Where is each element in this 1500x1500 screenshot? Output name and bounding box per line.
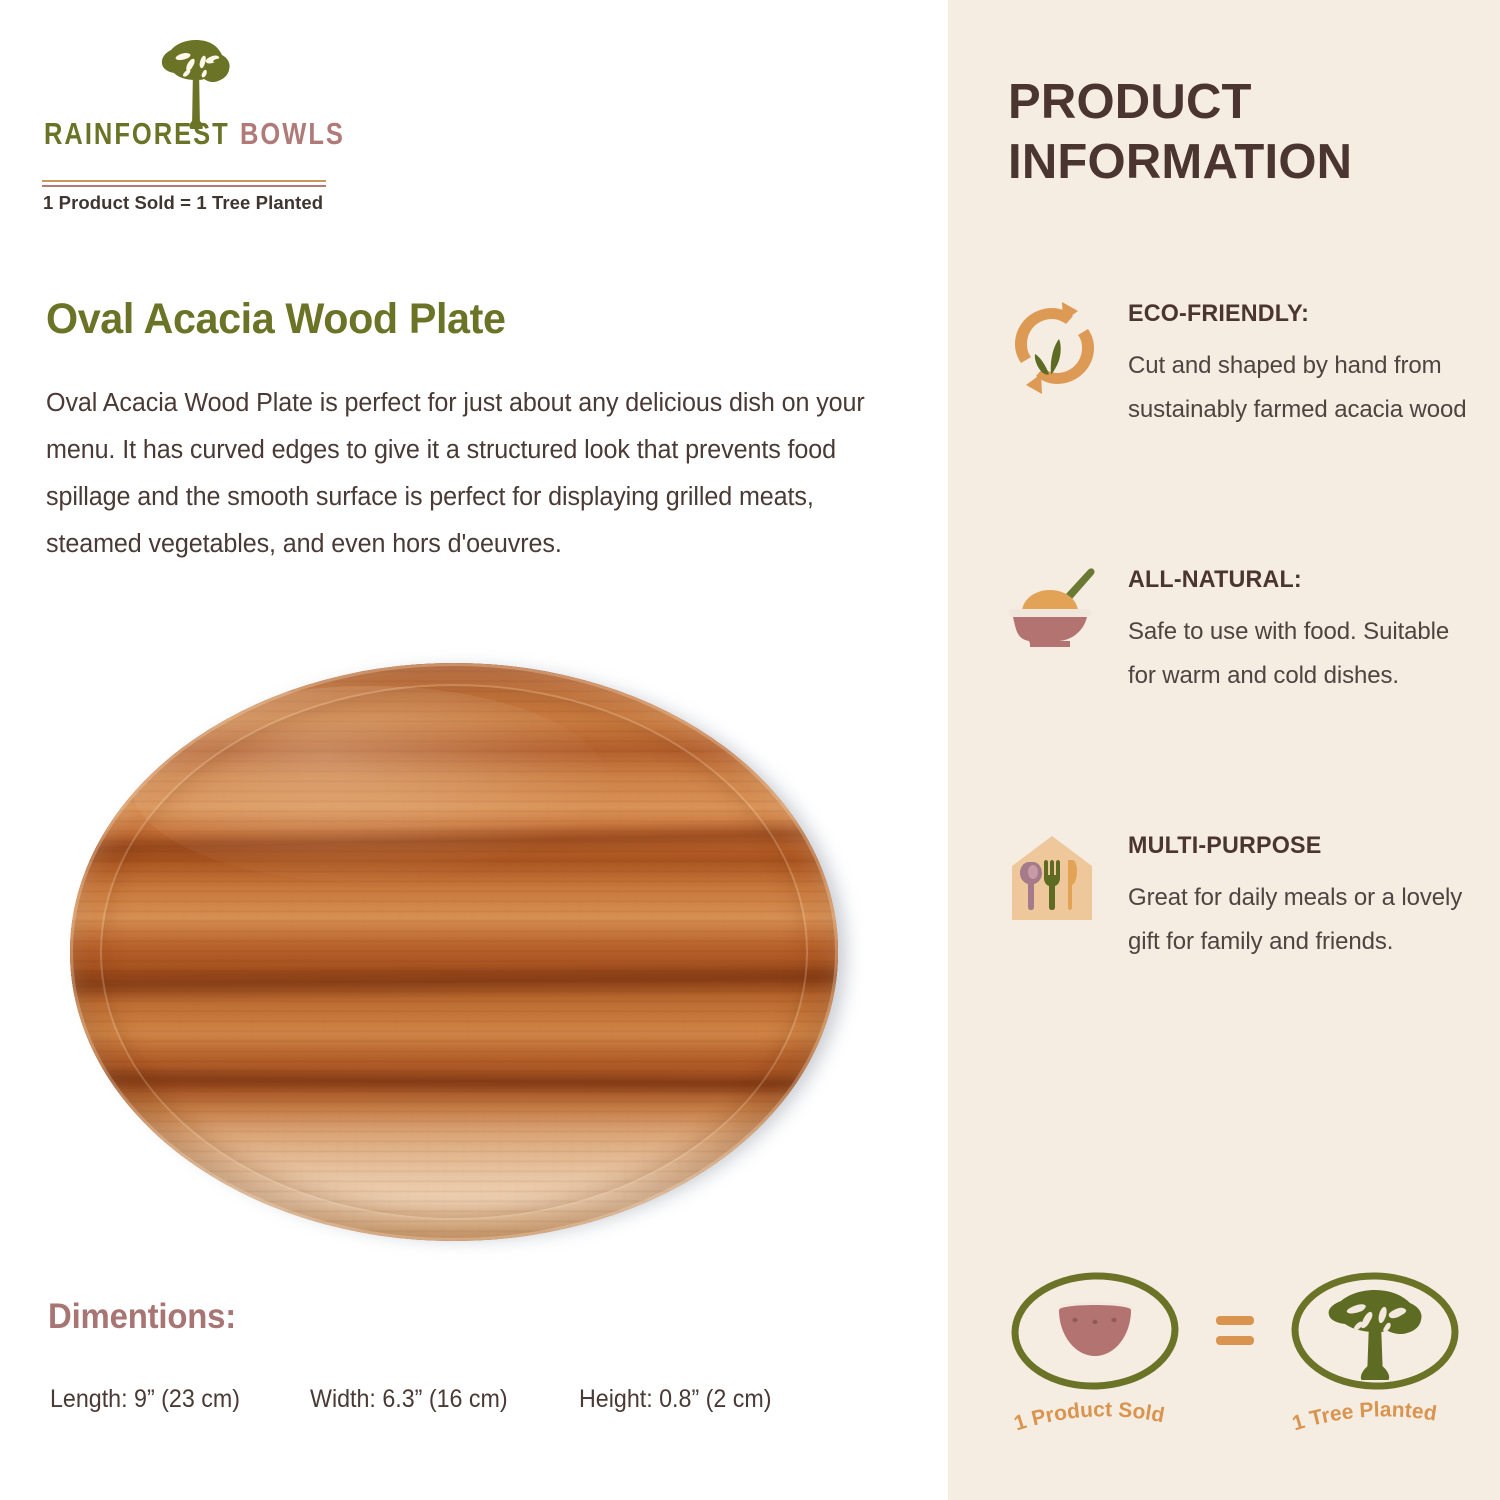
left-panel: RAINFOREST BOWLS 1 Product Sold = 1 Tree… (0, 0, 948, 1500)
feature-eco-friendly: ECO-FRIENDLY: Cut and shaped by hand fro… (1000, 296, 1482, 432)
dimension-width: Width: 6.3” (16 cm) (310, 1385, 508, 1414)
feature-title-eco-friendly: ECO-FRIENDLY: (1128, 300, 1471, 328)
feature-all-natural: ALL-NATURAL: Safe to use with food. Suit… (1000, 562, 1482, 698)
logo-divider-rose (42, 185, 326, 187)
dimension-length: Length: 9” (23 cm) (50, 1385, 240, 1414)
panel-heading-line1: PRODUCT (1008, 72, 1352, 132)
panel-heading-line2: INFORMATION (1008, 132, 1352, 192)
dimensions-row: Length: 9” (23 cm) Width: 6.3” (16 cm) H… (50, 1385, 930, 1414)
brand-logo[interactable]: RAINFOREST BOWLS 1 Product Sold = 1 Tree… (42, 38, 332, 160)
feature-title-multi-purpose: MULTI-PURPOSE (1128, 832, 1471, 860)
equals-bar-bottom (1216, 1336, 1254, 1345)
product-description: Oval Acacia Wood Plate is perfect for ju… (46, 380, 879, 568)
product-image (60, 655, 860, 1255)
logo-divider-gold (42, 180, 326, 182)
acacia-tree-icon (160, 38, 232, 130)
dimension-height: Height: 0.8” (2 cm) (579, 1385, 772, 1414)
feature-text-all-natural: ALL-NATURAL: Safe to use with food. Suit… (1128, 562, 1482, 698)
recycle-leaf-icon (1000, 296, 1104, 400)
logo-mark: RAINFOREST BOWLS (42, 38, 332, 160)
infographic-page: RAINFOREST BOWLS 1 Product Sold = 1 Tree… (0, 0, 1500, 1500)
bowl-icon (1000, 1268, 1190, 1403)
svg-text:1 Product Sold: 1 Product Sold (1011, 1398, 1166, 1435)
feature-text-multi-purpose: MULTI-PURPOSE Great for daily meals or a… (1128, 828, 1482, 964)
feature-body-all-natural: Safe to use with food. Suitable for warm… (1128, 610, 1482, 698)
badge-tree-planted: 1 Tree Planted (1280, 1268, 1470, 1439)
equals-bar-top (1216, 1316, 1254, 1325)
plate-body (70, 663, 838, 1241)
plate-rim (70, 663, 838, 1241)
feature-text-eco-friendly: ECO-FRIENDLY: Cut and shaped by hand fro… (1128, 296, 1482, 432)
feature-body-eco-friendly: Cut and shaped by hand from sustainably … (1128, 344, 1482, 432)
logo-word-bowls: BOWLS (240, 118, 345, 152)
panel-heading: PRODUCT INFORMATION (1008, 72, 1352, 192)
product-title: Oval Acacia Wood Plate (46, 295, 506, 344)
brand-tagline: 1 Product Sold = 1 Tree Planted (43, 192, 323, 214)
svg-text:1 Tree Planted: 1 Tree Planted (1290, 1398, 1439, 1435)
bowl-with-spoon-icon (1000, 562, 1104, 666)
product-information-panel: PRODUCT INFORMATION ECO-FRIENDLY: Cut an… (948, 0, 1500, 1500)
feature-body-multi-purpose: Great for daily meals or a lovely gift f… (1128, 876, 1482, 964)
equals-icon (1216, 1316, 1254, 1345)
tree-icon (1280, 1268, 1470, 1403)
feature-title-all-natural: ALL-NATURAL: (1128, 566, 1471, 594)
logo-word-rainforest: RAINFOREST (44, 118, 230, 152)
dimensions-heading: Dimentions: (48, 1297, 236, 1337)
badge-product-sold: 1 Product Sold (1000, 1268, 1190, 1439)
one-sold-one-planted-badges: 1 Product Sold (1000, 1268, 1470, 1439)
house-utensils-icon (1000, 828, 1104, 932)
feature-multi-purpose: MULTI-PURPOSE Great for daily meals or a… (1000, 828, 1482, 964)
